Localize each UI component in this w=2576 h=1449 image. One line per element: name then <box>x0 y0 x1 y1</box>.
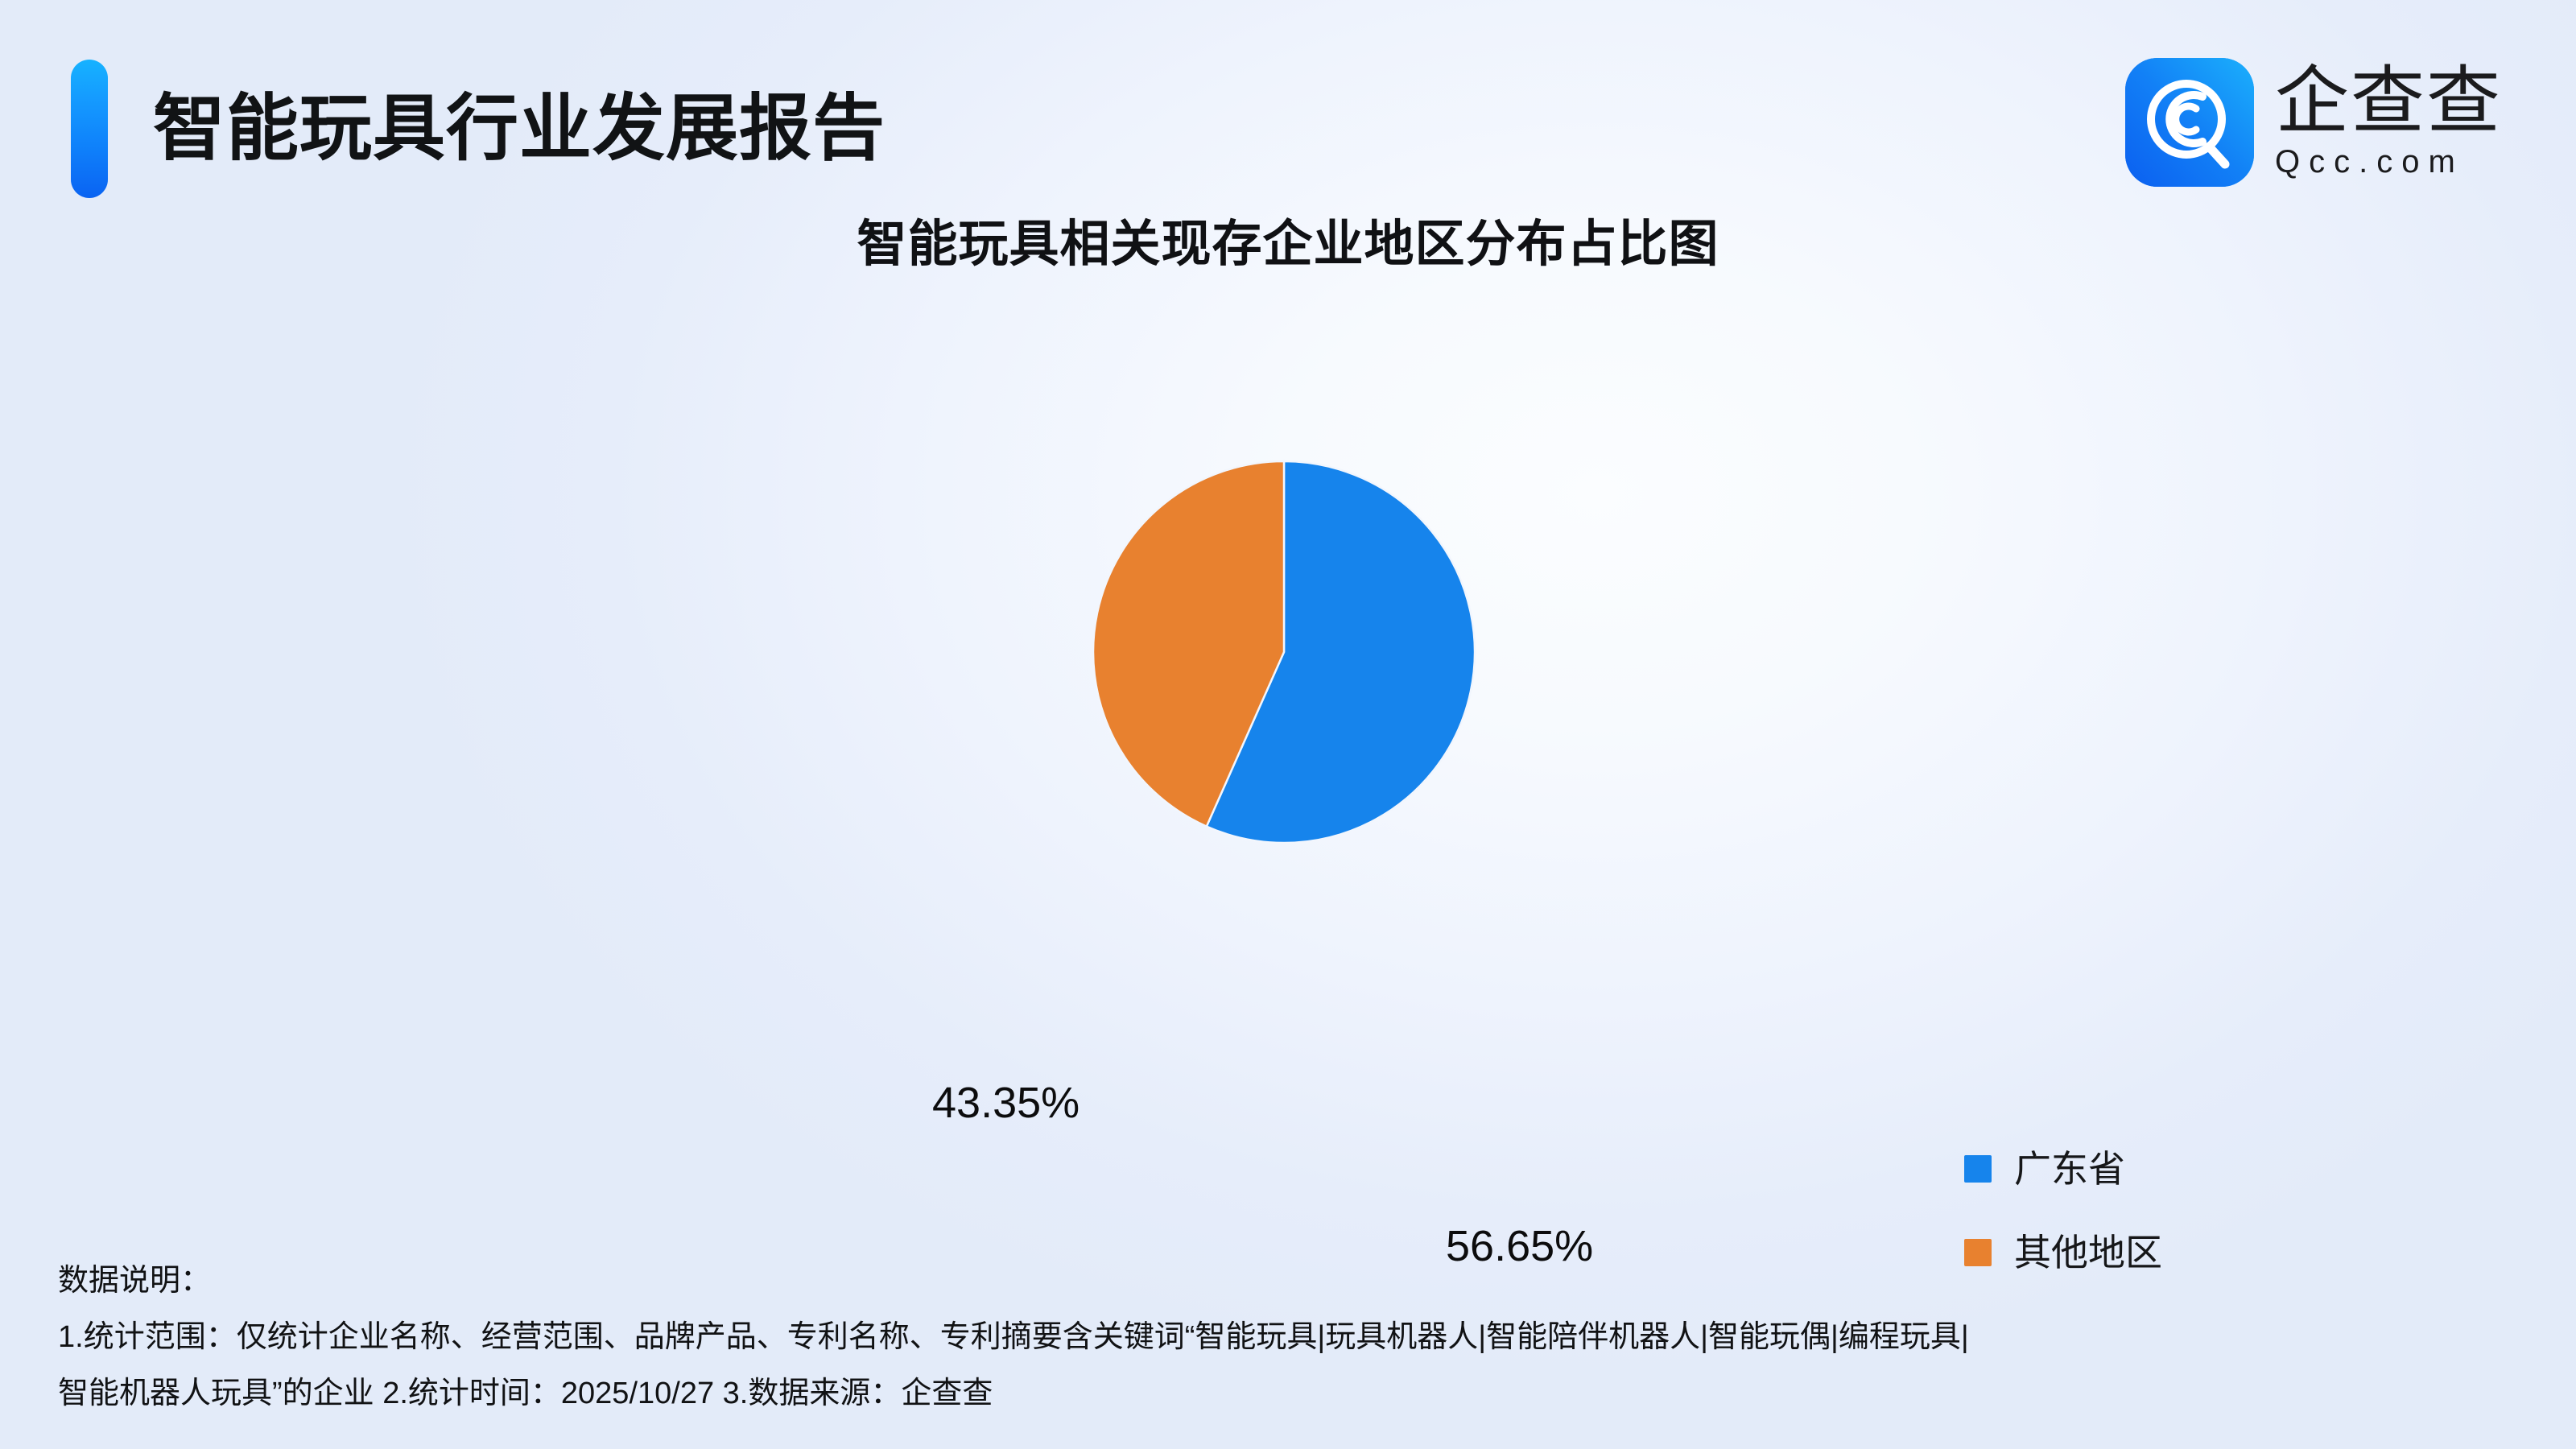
qcc-q-logo-icon <box>2125 58 2254 187</box>
report-page: 智能玩具行业发展报告 <box>0 0 2576 1449</box>
pie-chart: 43.35% 56.65% 广东省 其他地区 <box>0 354 2576 1224</box>
qcc-logo[interactable]: 企查查 Qcc.com <box>2125 50 2502 195</box>
logo-wordmark: 企查查 Qcc.com <box>2275 56 2502 188</box>
footnote-line-1: 1.统计范围：仅统计企业名称、经营范围、品牌产品、专利名称、专利摘要含关键词“智… <box>58 1309 2473 1365</box>
legend-item-guangdong[interactable]: 广东省 <box>1964 1127 2302 1211</box>
pie-slice-label-other: 43.35% <box>932 1079 1080 1127</box>
pie-graphic <box>1091 459 1477 845</box>
page-header: 智能玩具行业发展报告 <box>0 0 2576 209</box>
logo-brand-cn: 企查查 <box>2275 61 2502 142</box>
footnotes: 数据说明： 1.统计范围：仅统计企业名称、经营范围、品牌产品、专利名称、专利摘要… <box>58 1253 2473 1422</box>
logo-brand-domain: Qcc.com <box>2275 143 2502 180</box>
footnote-heading: 数据说明： <box>58 1253 2473 1309</box>
title-accent-bar <box>71 60 108 198</box>
legend-item-label: 广东省 <box>2014 1148 2125 1190</box>
footnote-line-2: 智能机器人玩具”的企业 2.统计时间：2025/10/27 3.数据来源：企查查 <box>58 1365 2473 1422</box>
page-title: 智能玩具行业发展报告 <box>153 61 885 196</box>
chart-title: 智能玩具相关现存企业地区分布占比图 <box>0 212 2576 278</box>
legend-swatch-icon <box>1964 1155 1992 1183</box>
